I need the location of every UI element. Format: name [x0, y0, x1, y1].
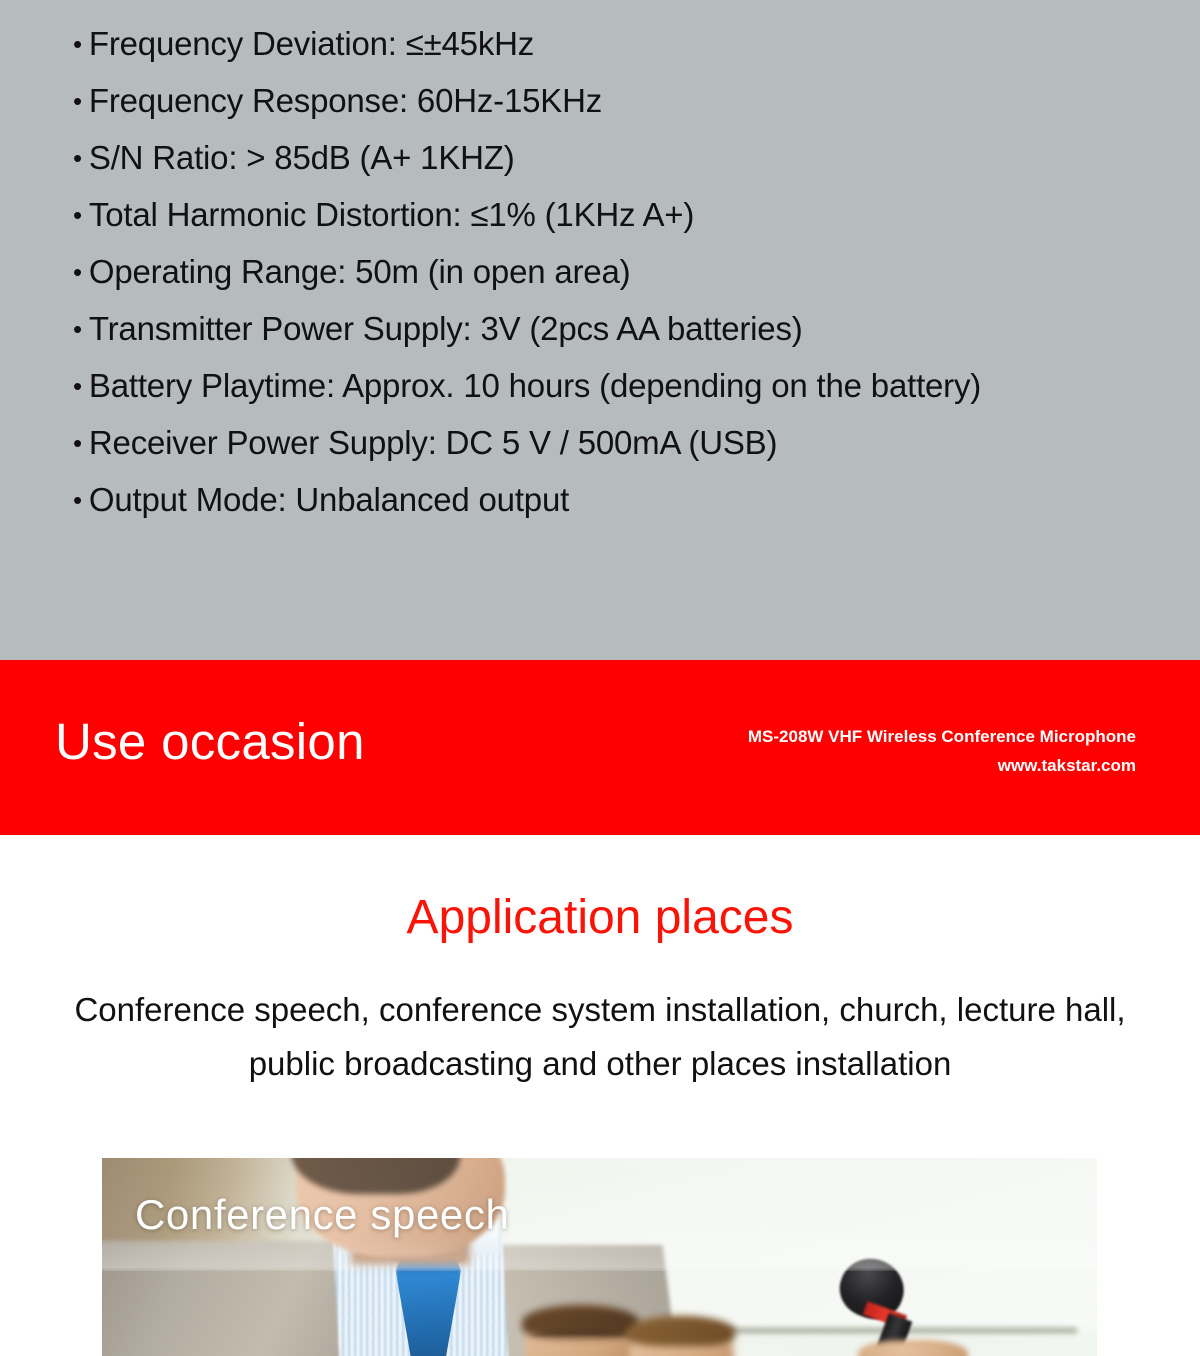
section-description: Conference speech, conference system ins… — [40, 983, 1160, 1091]
spec-text: Battery Playtime: Approx. 10 hours (depe… — [89, 367, 981, 404]
bullet-icon: • — [73, 244, 82, 301]
list-item: •S/N Ratio: > 85dB (A+ 1KHZ) — [0, 129, 1200, 186]
bullet-icon: • — [73, 16, 82, 73]
spec-text: Transmitted Power: ≤10mW — [89, 0, 492, 5]
photo-audience-hair-2 — [627, 1316, 734, 1346]
bullet-icon: • — [73, 130, 82, 187]
list-item: •Total Harmonic Distortion: ≤1% (1KHz A+… — [0, 186, 1200, 243]
list-item: •Frequency Response: 60Hz-15KHz — [0, 72, 1200, 129]
list-item: •Output Mode: Unbalanced output — [0, 471, 1200, 528]
list-item: •Receiver Power Supply: DC 5 V / 500mA (… — [0, 414, 1200, 471]
bullet-icon: • — [73, 301, 82, 358]
spec-text: Receiver Power Supply: DC 5 V / 500mA (U… — [89, 424, 777, 461]
specification-list: •Transmitted Power: ≤10mW •Frequency Dev… — [0, 0, 1200, 528]
bullet-icon: • — [73, 187, 82, 244]
website-url: www.takstar.com — [748, 751, 1136, 780]
bullet-icon: • — [73, 0, 82, 16]
bullet-icon: • — [73, 358, 82, 415]
specifications-section: •Transmitted Power: ≤10mW •Frequency Dev… — [0, 0, 1200, 660]
photo-hand — [858, 1340, 967, 1356]
section-banner: Use occasion MS-208W VHF Wireless Confer… — [0, 660, 1200, 835]
list-item: •Transmitter Power Supply: 3V (2pcs AA b… — [0, 300, 1200, 357]
product-name: MS-208W VHF Wireless Conference Micropho… — [748, 722, 1136, 751]
spec-text: Total Harmonic Distortion: ≤1% (1KHz A+) — [89, 196, 694, 233]
spec-text: Operating Range: 50m (in open area) — [89, 253, 631, 290]
bullet-icon: • — [73, 73, 82, 130]
bullet-icon: • — [73, 472, 82, 529]
photo-audience-glasses — [530, 1332, 634, 1344]
list-item: •Battery Playtime: Approx. 10 hours (dep… — [0, 357, 1200, 414]
list-item: •Transmitted Power: ≤10mW — [0, 0, 1200, 15]
spec-text: Frequency Response: 60Hz-15KHz — [89, 82, 602, 119]
bullet-icon: • — [73, 415, 82, 472]
spec-text: Transmitter Power Supply: 3V (2pcs AA ba… — [89, 310, 803, 347]
brand-info: MS-208W VHF Wireless Conference Micropho… — [748, 722, 1136, 780]
conference-speech-photo: Conference speech — [102, 1158, 1097, 1356]
spec-text: Frequency Deviation: ≤±45kHz — [89, 25, 534, 62]
spec-text: S/N Ratio: > 85dB (A+ 1KHZ) — [89, 139, 515, 176]
list-item: •Operating Range: 50m (in open area) — [0, 243, 1200, 300]
photo-caption: Conference speech — [135, 1191, 509, 1239]
section-heading: Application places — [0, 890, 1200, 945]
page-title: Use occasion — [55, 712, 365, 771]
list-item: •Frequency Deviation: ≤±45kHz — [0, 15, 1200, 72]
spec-text: Output Mode: Unbalanced output — [89, 481, 569, 518]
